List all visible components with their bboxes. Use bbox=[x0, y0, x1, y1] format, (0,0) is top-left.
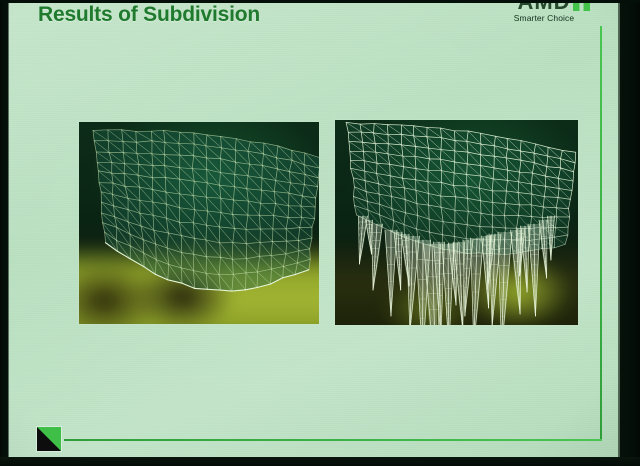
accent-rule-vertical bbox=[600, 26, 602, 441]
figure-right bbox=[335, 120, 578, 325]
photo-edge-top bbox=[0, 0, 640, 3]
accent-rule-horizontal bbox=[64, 439, 602, 441]
photo-edge-bottom bbox=[0, 457, 640, 466]
corner-square-glyph bbox=[36, 426, 62, 452]
page-title: Results of Subdivision bbox=[38, 3, 260, 27]
projected-slide-photo: Results of Subdivision AMD Smarter Choic… bbox=[0, 0, 640, 466]
amd-tagline: Smarter Choice bbox=[496, 13, 592, 24]
figure-left bbox=[79, 122, 319, 324]
corner-square-glyph-dark-half bbox=[37, 427, 61, 451]
figure-left-wireframe bbox=[79, 122, 319, 324]
amd-logo: AMD Smarter Choice bbox=[496, 0, 592, 26]
slide-surface: Results of Subdivision AMD Smarter Choic… bbox=[8, 2, 620, 457]
photo-edge-left bbox=[0, 0, 9, 466]
figure-right-wireframe bbox=[335, 120, 578, 325]
photo-edge-right bbox=[618, 0, 640, 466]
